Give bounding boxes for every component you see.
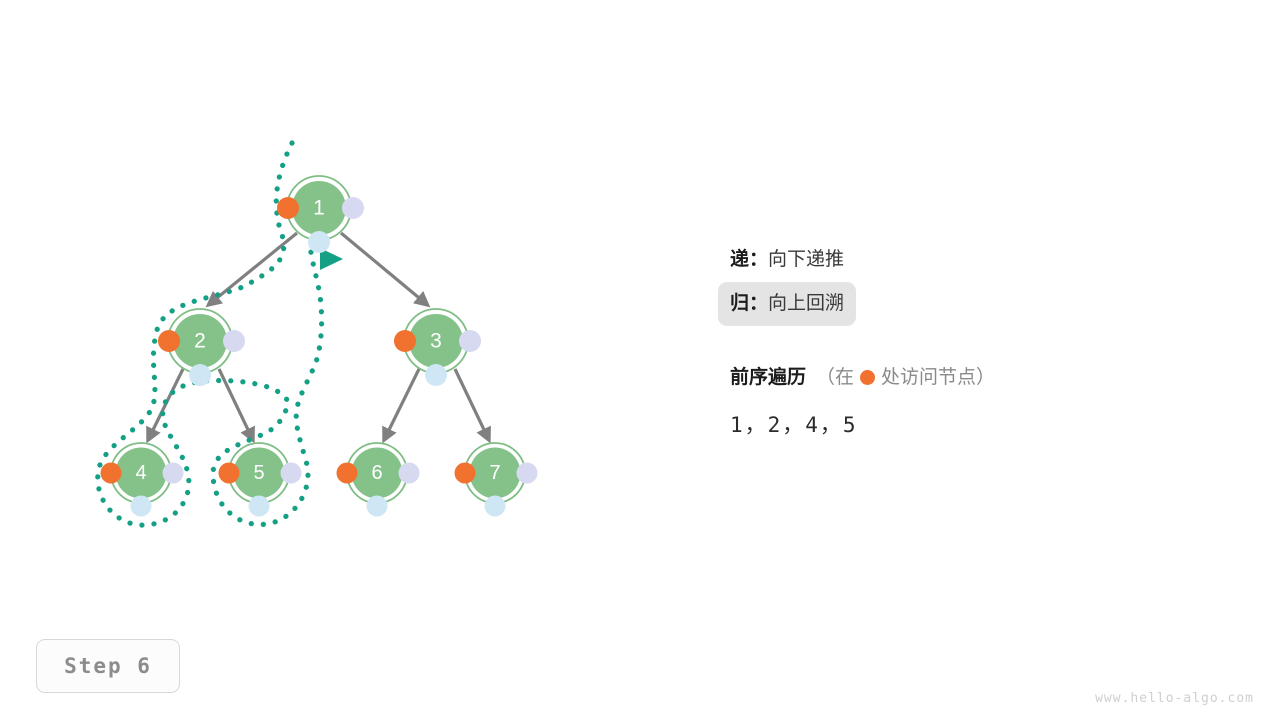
edge-1-2 <box>212 233 297 302</box>
edge-2-5 <box>219 369 251 436</box>
legend-item-return: 归： 向上回溯 <box>718 282 856 326</box>
traversal-name: 前序遍历 <box>730 362 806 389</box>
node-label: 7 <box>489 462 500 484</box>
edge-3-7 <box>455 369 487 436</box>
visit-dot-icon <box>860 370 875 385</box>
tree-node-6[interactable]: 6 <box>337 443 420 517</box>
node-visit-dot-icon <box>337 463 358 484</box>
node-label: 6 <box>371 462 382 484</box>
watermark: www.hello-algo.com <box>1095 691 1254 706</box>
node-label: 4 <box>135 462 146 484</box>
node-label: 5 <box>253 462 264 484</box>
tree-diagram: 1 2 3 4 <box>0 0 1280 720</box>
node-label: 2 <box>194 330 206 353</box>
traversal-panel: 前序遍历 （在 处访问节点） 1，2，4，5 <box>730 362 1190 439</box>
node-bottom-dot-icon <box>308 231 330 253</box>
node-right-dot-icon <box>223 330 245 352</box>
node-bottom-dot-icon <box>367 496 388 517</box>
step-badge: Step 6 <box>36 639 180 693</box>
node-bottom-dot-icon <box>131 496 152 517</box>
legend-term-return: 归： <box>730 285 768 323</box>
legend-panel: 递： 向下递推 归： 向上回溯 <box>730 238 1150 326</box>
tree-node-5[interactable]: 5 <box>219 443 302 517</box>
node-visit-dot-icon <box>277 197 299 219</box>
legend-term-recurse: 递： <box>730 241 768 279</box>
node-right-dot-icon <box>399 463 420 484</box>
node-bottom-dot-icon <box>189 364 211 386</box>
node-visit-dot-icon <box>219 463 240 484</box>
tree-node-7[interactable]: 7 <box>455 443 538 517</box>
node-visit-dot-icon <box>158 330 180 352</box>
traversal-heading: 前序遍历 （在 处访问节点） <box>730 362 1190 389</box>
traversal-note-prefix: （在 <box>816 362 854 389</box>
node-right-dot-icon <box>517 463 538 484</box>
legend-desc-return: 向上回溯 <box>768 285 844 323</box>
node-visit-dot-icon <box>455 463 476 484</box>
node-label: 1 <box>313 197 325 220</box>
tree-node-4[interactable]: 4 <box>101 443 184 517</box>
node-right-dot-icon <box>163 463 184 484</box>
legend-item-recurse: 递： 向下递推 <box>718 238 1150 282</box>
node-bottom-dot-icon <box>249 496 270 517</box>
traversal-values: 1，2，4，5 <box>730 409 1190 439</box>
node-label: 3 <box>430 330 442 353</box>
legend-desc-recurse: 向下递推 <box>768 241 844 279</box>
edge-1-3 <box>341 233 424 302</box>
traversal-note-suffix: 处访问节点） <box>881 362 995 389</box>
node-visit-dot-icon <box>101 463 122 484</box>
node-right-dot-icon <box>342 197 364 219</box>
node-bottom-dot-icon <box>425 364 447 386</box>
node-right-dot-icon <box>459 330 481 352</box>
tree-node-3[interactable]: 3 <box>394 309 481 386</box>
node-visit-dot-icon <box>394 330 416 352</box>
edge-3-6 <box>386 369 419 436</box>
tree-node-2[interactable]: 2 <box>158 309 245 386</box>
node-bottom-dot-icon <box>485 496 506 517</box>
node-right-dot-icon <box>281 463 302 484</box>
